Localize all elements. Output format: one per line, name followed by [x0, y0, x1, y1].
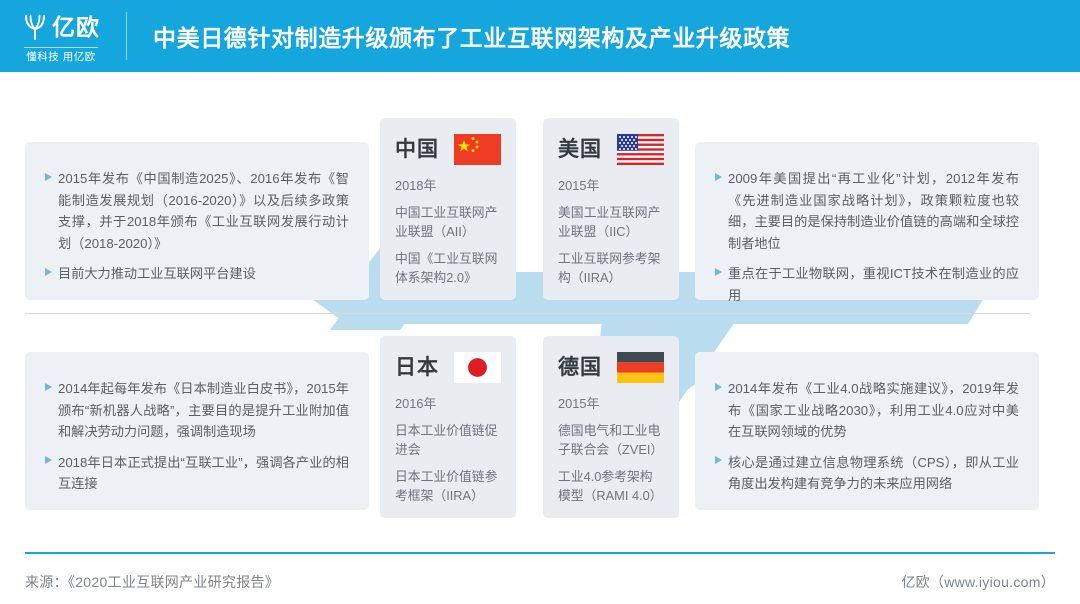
- japan-bullet-list: 2014年起每年发布《日本制造业白皮书》，2015年颁布“新机器人战略”，主要目…: [45, 378, 349, 495]
- country-name: 日本: [395, 356, 439, 380]
- flag-japan-icon: [454, 352, 501, 383]
- footer-rule: [25, 552, 1055, 554]
- country-name: 美国: [558, 138, 602, 162]
- flag-germany-icon: [617, 352, 664, 383]
- bullet-text: 重点在于工业物联网，重视ICT技术在制造业的应用: [728, 266, 1019, 303]
- country-name: 德国: [558, 356, 602, 380]
- panel-country-germany: 德国 2015年 德国电气和工业电子联合会（ZVEI） 工业4.0参考架构模型（…: [543, 336, 679, 518]
- country-year: 2015年: [558, 176, 664, 195]
- panel-country-japan: 日本 2016年 日本工业价值链促进会 日本工业价值链参考框架（IIRA）: [380, 336, 516, 518]
- footer-brand: 亿欧（www.iyiou.com）: [901, 572, 1055, 592]
- bullet-text: 2018年日本正式提出“互联工业”，强调各产业的相互连接: [58, 455, 349, 492]
- logo-top-row: 亿欧: [22, 10, 100, 44]
- bullet-arrow-icon: [715, 173, 722, 181]
- bullet-text: 2014年发布《工业4.0战略实施建议》，2019年发布《国家工业战略2030》…: [728, 381, 1019, 439]
- country-framework: 中国《工业互联网体系架构2.0》: [395, 249, 501, 287]
- list-item: 目前大力推动工业互联网平台建设: [45, 263, 349, 285]
- country-header-china: 中国: [395, 134, 501, 165]
- country-framework: 工业互联网参考架构（IIRA）: [558, 249, 664, 287]
- country-org: 美国工业互联网产业联盟（IIC）: [558, 203, 664, 241]
- logo-tagline: 懂科技 用亿欧: [26, 51, 95, 63]
- bullet-arrow-icon: [715, 383, 722, 391]
- panel-germany-text: 2014年发布《工业4.0战略实施建议》，2019年发布《国家工业战略2030》…: [695, 352, 1039, 510]
- bullet-arrow-icon: [715, 456, 722, 464]
- country-framework: 日本工业价值链参考框架（IIRA）: [395, 467, 501, 505]
- country-header-usa: 美国: [558, 134, 664, 165]
- page-title: 中美日德针对制造升级颁布了工业互联网架构及产业升级政策: [153, 19, 790, 53]
- flag-china-icon: [454, 134, 501, 165]
- list-item: 重点在于工业物联网，重视ICT技术在制造业的应用: [715, 263, 1019, 306]
- panel-country-china: 中国 2018年 中国工业互联网产业联盟（AII） 中国《工业互联网体系架构2.…: [380, 118, 516, 300]
- row-divider: [25, 313, 1030, 314]
- panel-japan-text: 2014年起每年发布《日本制造业白皮书》，2015年颁布“新机器人战略”，主要目…: [25, 352, 369, 510]
- list-item: 2014年发布《工业4.0战略实施建议》，2019年发布《国家工业战略2030》…: [715, 378, 1019, 443]
- bullet-text: 2015年发布《中国制造2025》、2016年发布《智能制造发展规划（2016-…: [58, 171, 349, 251]
- country-header-japan: 日本: [395, 352, 501, 383]
- page-footer: 来源：《2020工业互联网产业研究报告》 亿欧（www.iyiou.com）: [0, 560, 1080, 604]
- bullet-arrow-icon: [45, 456, 52, 464]
- bullet-arrow-icon: [45, 383, 52, 391]
- bullet-arrow-icon: [715, 268, 722, 276]
- country-org: 日本工业价值链促进会: [395, 421, 501, 459]
- list-item: 2014年起每年发布《日本制造业白皮书》，2015年颁布“新机器人战略”，主要目…: [45, 378, 349, 443]
- bullet-text: 2014年起每年发布《日本制造业白皮书》，2015年颁布“新机器人战略”，主要目…: [58, 381, 349, 439]
- usa-bullet-list: 2009年美国提出“再工业化”计划，2012年发布《先进制造业国家战略计划》，政…: [715, 168, 1019, 306]
- country-year: 2018年: [395, 176, 501, 195]
- footer-source: 来源：《2020工业互联网产业研究报告》: [25, 572, 279, 592]
- logo-rule: [24, 47, 98, 48]
- country-year: 2016年: [395, 394, 501, 413]
- list-item: 核心是通过建立信息物理系统（CPS），即从工业角度出发构建有竞争力的未来应用网络: [715, 452, 1019, 495]
- bullet-text: 2009年美国提出“再工业化”计划，2012年发布《先进制造业国家战略计划》，政…: [728, 171, 1019, 251]
- bullet-arrow-icon: [45, 173, 52, 181]
- china-bullet-list: 2015年发布《中国制造2025》、2016年发布《智能制造发展规划（2016-…: [45, 168, 349, 285]
- germany-bullet-list: 2014年发布《工业4.0战略实施建议》，2019年发布《国家工业战略2030》…: [715, 378, 1019, 495]
- bullet-arrow-icon: [45, 268, 52, 276]
- flag-usa-icon: [617, 134, 664, 165]
- country-org: 中国工业互联网产业联盟（AII）: [395, 203, 501, 241]
- yiou-sprout-logo-icon: [22, 13, 49, 41]
- page-header: 亿欧 懂科技 用亿欧 中美日德针对制造升级颁布了工业互联网架构及产业升级政策: [0, 0, 1080, 72]
- logo-wordmark: 亿欧: [52, 14, 100, 40]
- country-framework: 工业4.0参考架构模型（RAMI 4.0）: [558, 467, 664, 505]
- country-year: 2015年: [558, 394, 664, 413]
- list-item: 2009年美国提出“再工业化”计划，2012年发布《先进制造业国家战略计划》，政…: [715, 168, 1019, 254]
- list-item: 2018年日本正式提出“互联工业”，强调各产业的相互连接: [45, 452, 349, 495]
- country-name: 中国: [395, 138, 439, 162]
- bullet-text: 核心是通过建立信息物理系统（CPS），即从工业角度出发构建有竞争力的未来应用网络: [728, 455, 1019, 492]
- bullet-text: 目前大力推动工业互联网平台建设: [58, 266, 256, 281]
- panel-usa-text: 2009年美国提出“再工业化”计划，2012年发布《先进制造业国家战略计划》，政…: [695, 142, 1039, 300]
- panel-china-text: 2015年发布《中国制造2025》、2016年发布《智能制造发展规划（2016-…: [25, 142, 369, 300]
- country-org: 德国电气和工业电子联合会（ZVEI）: [558, 421, 664, 459]
- header-vertical-divider: [126, 12, 127, 60]
- panel-country-usa: 美国: [543, 118, 679, 300]
- list-item: 2015年发布《中国制造2025》、2016年发布《智能制造发展规划（2016-…: [45, 168, 349, 254]
- country-header-germany: 德国: [558, 352, 664, 383]
- brand-logo: 亿欧 懂科技 用亿欧: [0, 0, 122, 72]
